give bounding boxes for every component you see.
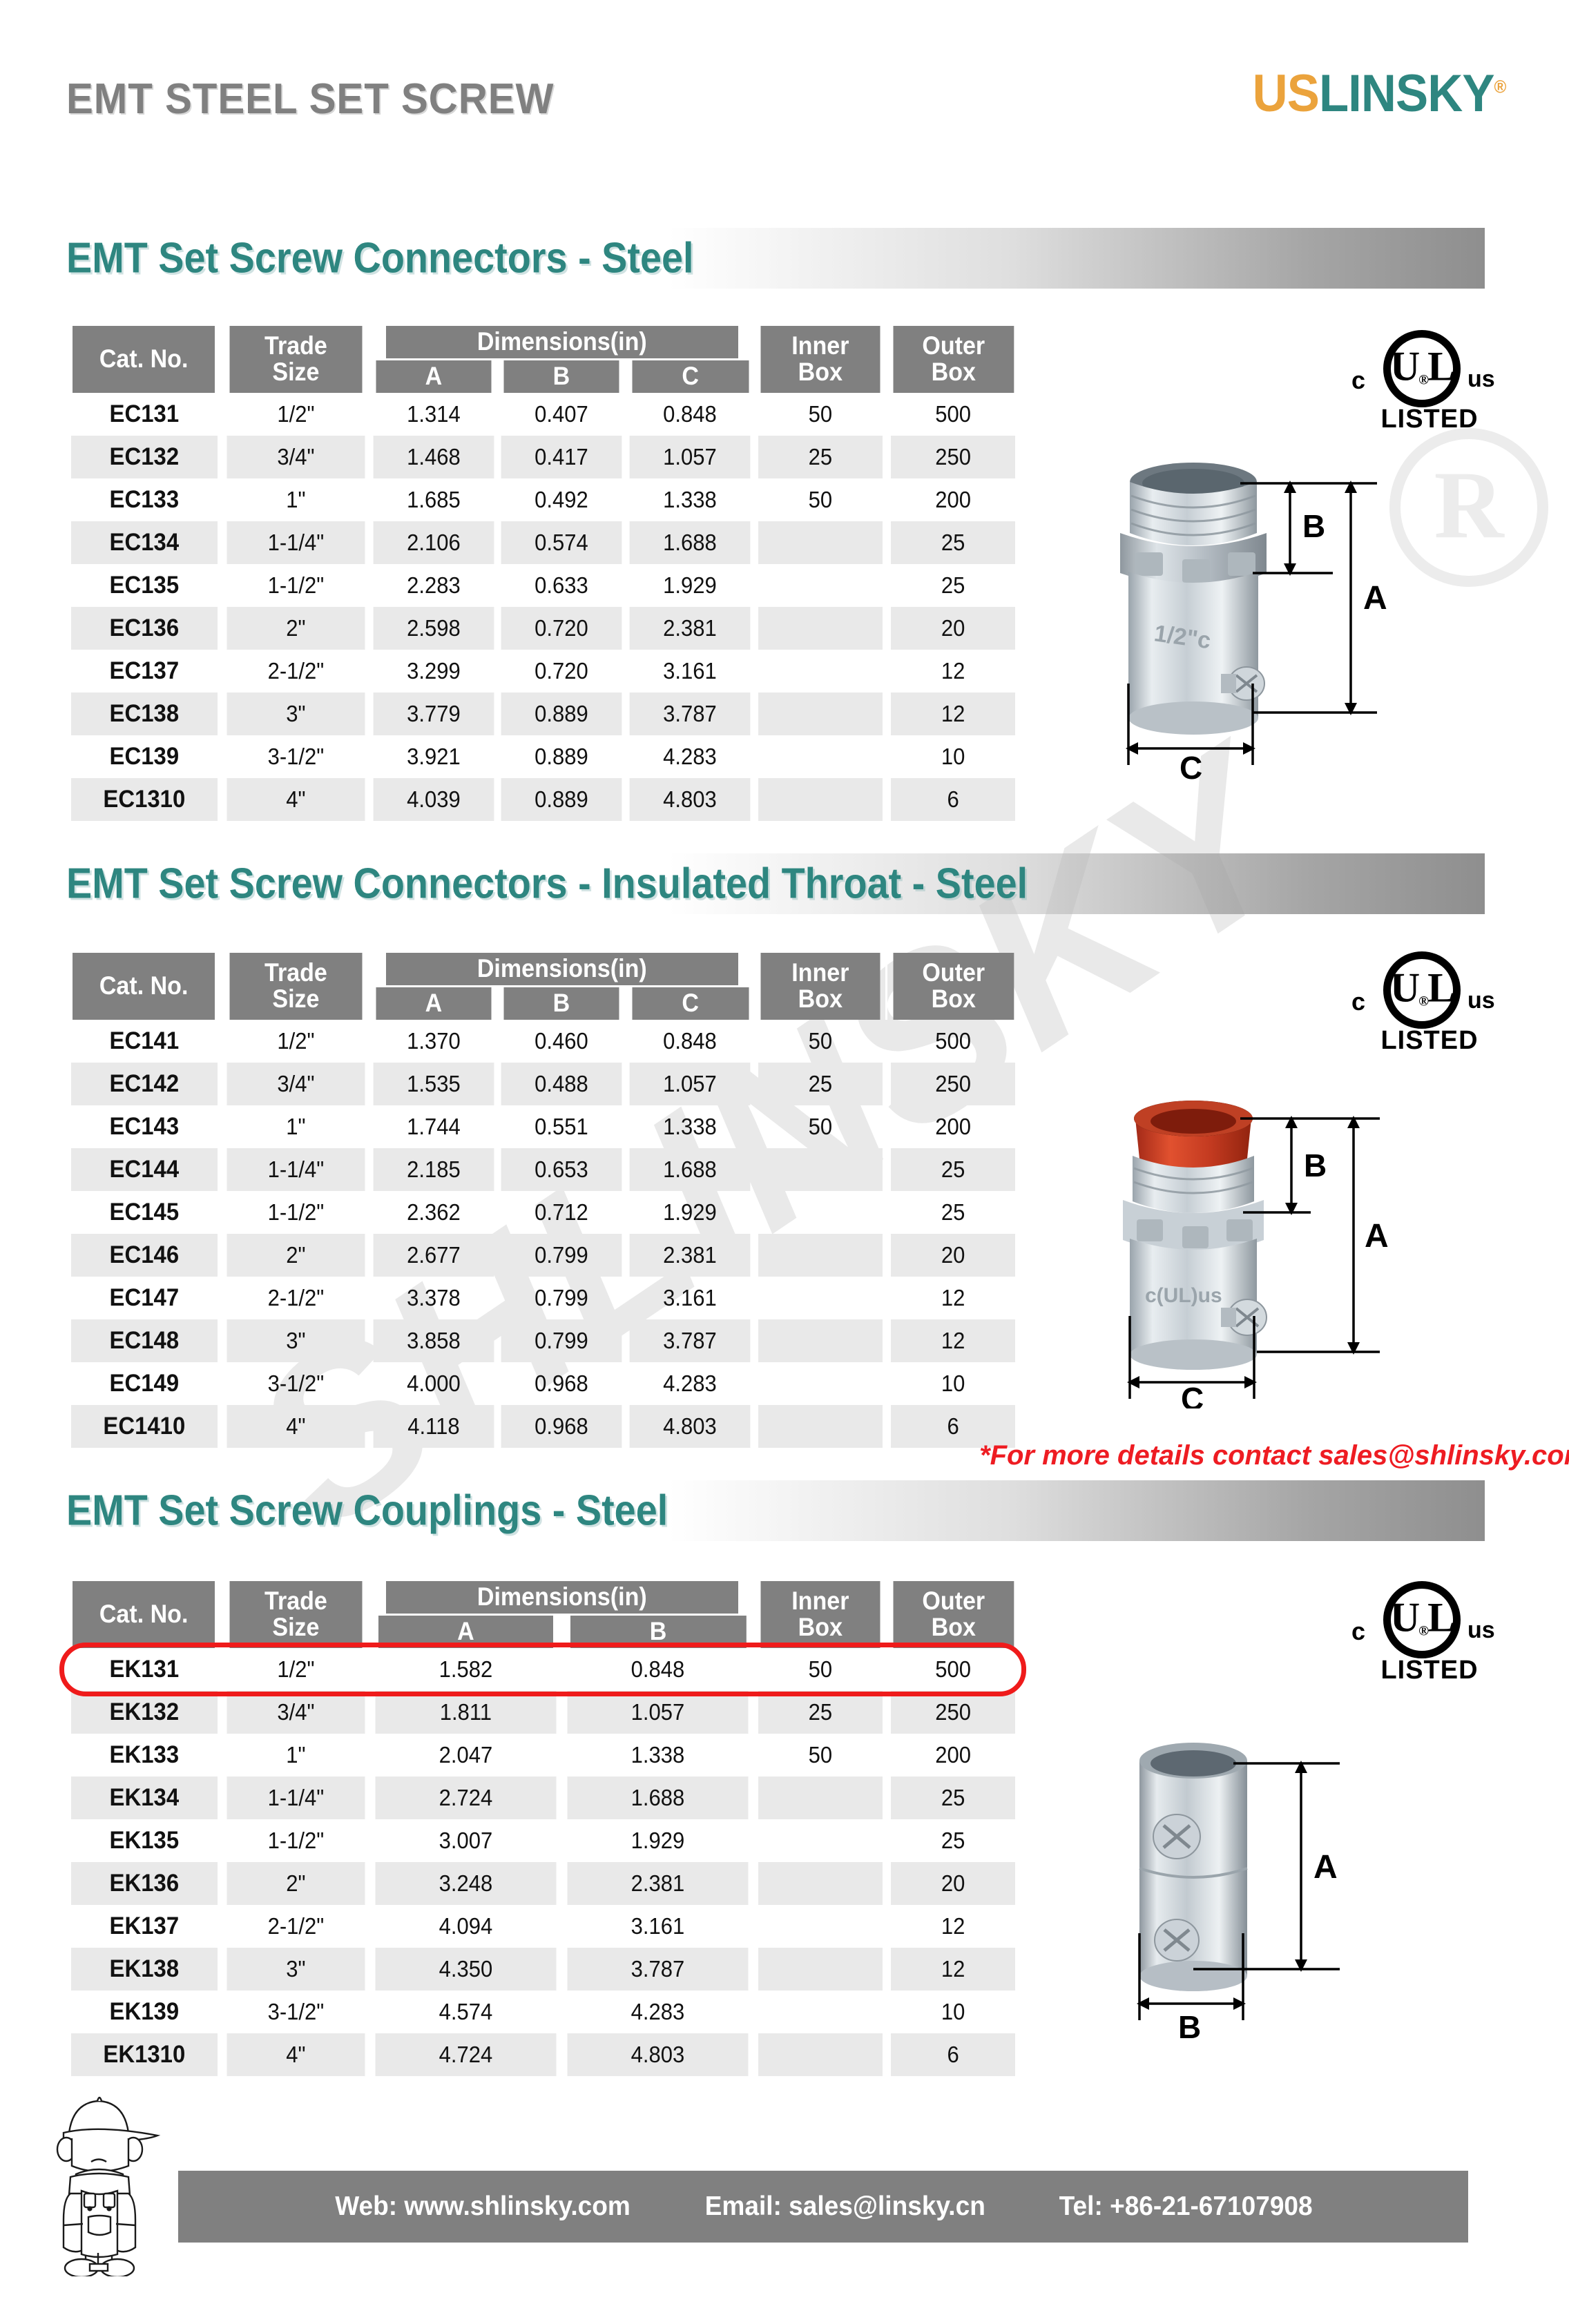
cell-dim-c: 1.057 bbox=[630, 1063, 751, 1105]
ul-us-label: us bbox=[1467, 1617, 1495, 1644]
cell-cat: EC135 bbox=[71, 564, 218, 607]
col-cat-no: Cat. No. bbox=[73, 953, 216, 1020]
cell-dim-b: 0.653 bbox=[501, 1148, 622, 1191]
cell-dim-a: 3.779 bbox=[373, 693, 494, 735]
table-row: EK1383"4.3503.78712 bbox=[66, 1948, 1019, 1991]
ul-c-label: c bbox=[1351, 1617, 1365, 1646]
table-row: EK1351-1/2"3.0071.92925 bbox=[66, 1819, 1019, 1862]
cell-outer-box: 25 bbox=[891, 1819, 1016, 1862]
cell-dim-a: 4.350 bbox=[375, 1948, 556, 1991]
cell-dim-a: 1.811 bbox=[375, 1691, 556, 1734]
cell-cat: EK134 bbox=[71, 1776, 218, 1819]
cell-trade: 3/4" bbox=[227, 436, 365, 478]
cell-trade: 3/4" bbox=[227, 1063, 365, 1105]
table-row: EC1393-1/2"3.9210.8894.28310 bbox=[66, 735, 1019, 778]
cell-cat: EC142 bbox=[71, 1063, 218, 1105]
cell-inner-box bbox=[758, 778, 883, 821]
cell-outer-box: 20 bbox=[891, 1862, 1016, 1905]
cell-dim-c: 1.338 bbox=[630, 1105, 751, 1148]
cell-outer-box: 10 bbox=[891, 1362, 1016, 1405]
cell-dim-a: 1.744 bbox=[373, 1105, 494, 1148]
logo-linsky-text: LINSKY bbox=[1318, 64, 1494, 123]
col-inner-box: InnerBox bbox=[760, 953, 881, 1020]
cell-inner-box bbox=[758, 1319, 883, 1362]
cell-cat: EK139 bbox=[71, 1991, 218, 2033]
svg-text:c(UL)us: c(UL)us bbox=[1145, 1284, 1222, 1307]
cell-trade: 1-1/4" bbox=[227, 521, 365, 564]
cell-dim-c: 4.283 bbox=[630, 735, 751, 778]
cell-inner-box bbox=[758, 1148, 883, 1191]
cell-dim-b: 0.968 bbox=[501, 1405, 622, 1448]
cell-dim-b: 3.161 bbox=[568, 1905, 749, 1948]
table-row: EC13104"4.0390.8894.8036 bbox=[66, 778, 1019, 821]
ul-us-label: us bbox=[1467, 366, 1495, 393]
table-row: EC1323/4"1.4680.4171.05725250 bbox=[66, 436, 1019, 478]
cell-cat: EC1410 bbox=[71, 1405, 218, 1448]
svg-text:B: B bbox=[1304, 1148, 1327, 1183]
cell-dim-c: 4.803 bbox=[630, 1405, 751, 1448]
cell-trade: 2" bbox=[227, 607, 365, 650]
cell-dim-a: 2.106 bbox=[373, 521, 494, 564]
table-row: EC1493-1/2"4.0000.9684.28310 bbox=[66, 1362, 1019, 1405]
cell-trade: 3-1/2" bbox=[227, 1991, 365, 2033]
cell-dim-c: 3.161 bbox=[630, 650, 751, 693]
cell-dim-a: 3.858 bbox=[373, 1319, 494, 1362]
cell-outer-box: 250 bbox=[891, 436, 1016, 478]
cell-cat: EC133 bbox=[71, 478, 218, 521]
ul-listed-label: LISTED bbox=[1350, 1026, 1509, 1056]
mascot-worker-icon bbox=[33, 2090, 164, 2280]
cell-outer-box: 12 bbox=[891, 1905, 1016, 1948]
table-row: EK1393-1/2"4.5744.28310 bbox=[66, 1991, 1019, 2033]
col-dimensions: Dimensions(in) bbox=[385, 326, 739, 359]
section-header-connectors-insulated: EMT Set Screw Connectors - Insulated Thr… bbox=[0, 853, 1485, 914]
cell-trade: 1/2" bbox=[227, 1648, 365, 1691]
col-cat-no: Cat. No. bbox=[73, 326, 216, 393]
cell-dim-b: 1.338 bbox=[568, 1734, 749, 1776]
figure-emt-connector-steel: 1/2"c B A bbox=[1105, 456, 1430, 780]
cell-dim-c: 3.787 bbox=[630, 1319, 751, 1362]
cell-dim-b: 1.929 bbox=[568, 1819, 749, 1862]
cell-inner-box: 25 bbox=[758, 1691, 883, 1734]
footer-tel[interactable]: Tel: +86-21-67107908 bbox=[1059, 2191, 1312, 2222]
cell-inner-box: 50 bbox=[758, 393, 883, 436]
cell-trade: 4" bbox=[227, 778, 365, 821]
svg-text:C: C bbox=[1180, 750, 1202, 780]
cell-dim-a: 4.724 bbox=[375, 2033, 556, 2076]
cell-trade: 1" bbox=[227, 1105, 365, 1148]
cell-inner-box bbox=[758, 693, 883, 735]
figure-emt-coupling: A B bbox=[1112, 1733, 1416, 2044]
cell-dim-b: 0.889 bbox=[501, 693, 622, 735]
cell-cat: EK1310 bbox=[71, 2033, 218, 2076]
brand-logo: USLINSKY® bbox=[1252, 64, 1505, 124]
table-row: EC1372-1/2"3.2990.7203.16112 bbox=[66, 650, 1019, 693]
cell-dim-b: 0.799 bbox=[501, 1234, 622, 1277]
cell-dim-a: 4.000 bbox=[373, 1362, 494, 1405]
cell-cat: EK131 bbox=[71, 1648, 218, 1691]
cell-dim-a: 2.047 bbox=[375, 1734, 556, 1776]
ul-circle: U®L bbox=[1383, 951, 1461, 1029]
table-row: EK13104"4.7244.8036 bbox=[66, 2033, 1019, 2076]
table-couplings-steel: Cat. No. TradeSize Dimensions(in) InnerB… bbox=[66, 1581, 1019, 2076]
cell-dim-b: 0.633 bbox=[501, 564, 622, 607]
cell-dim-b: 0.488 bbox=[501, 1063, 622, 1105]
ul-circle: U®L bbox=[1383, 1581, 1461, 1658]
cell-cat: EK132 bbox=[71, 1691, 218, 1734]
table-row: EC1462"2.6770.7992.38120 bbox=[66, 1234, 1019, 1277]
cell-dim-b: 4.283 bbox=[568, 1991, 749, 2033]
cell-dim-a: 1.685 bbox=[373, 478, 494, 521]
cell-dim-b: 4.803 bbox=[568, 2033, 749, 2076]
section-header-couplings-steel: EMT Set Screw Couplings - Steel bbox=[0, 1480, 1485, 1541]
cell-trade: 4" bbox=[227, 2033, 365, 2076]
cell-dim-b: 0.968 bbox=[501, 1362, 622, 1405]
ul-c-label: c bbox=[1351, 987, 1365, 1016]
cell-cat: EC147 bbox=[71, 1277, 218, 1319]
cell-outer-box: 25 bbox=[891, 521, 1016, 564]
ul-us-label: us bbox=[1467, 987, 1495, 1014]
section-title: EMT Set Screw Couplings - Steel bbox=[66, 1487, 668, 1536]
table-row: EC1431"1.7440.5511.33850200 bbox=[66, 1105, 1019, 1148]
cell-inner-box bbox=[758, 1277, 883, 1319]
ul-circle: U®L bbox=[1383, 330, 1461, 407]
cell-dim-c: 0.848 bbox=[630, 1020, 751, 1063]
cell-dim-a: 2.598 bbox=[373, 607, 494, 650]
cell-dim-c: 1.929 bbox=[630, 564, 751, 607]
contact-note: *For more details contact sales@shlinsky… bbox=[979, 1440, 1569, 1471]
footer-contact-bar: Web: www.shlinsky.com Email: sales@linsk… bbox=[178, 2171, 1468, 2243]
cell-dim-a: 2.283 bbox=[373, 564, 494, 607]
table-row: EC1451-1/2"2.3620.7121.92925 bbox=[66, 1191, 1019, 1234]
cell-outer-box: 12 bbox=[891, 1277, 1016, 1319]
col-dim-a: A bbox=[374, 986, 492, 1019]
col-dim-b: B bbox=[503, 359, 621, 392]
cell-outer-box: 12 bbox=[891, 650, 1016, 693]
cell-dim-a: 4.039 bbox=[373, 778, 494, 821]
cell-cat: EK136 bbox=[71, 1862, 218, 1905]
ul-listed-label: LISTED bbox=[1350, 1656, 1509, 1685]
cell-outer-box: 25 bbox=[891, 1191, 1016, 1234]
cell-dim-b: 0.720 bbox=[501, 607, 622, 650]
cell-trade: 3-1/2" bbox=[227, 735, 365, 778]
table-header: Cat. No. TradeSize Dimensions(in) InnerB… bbox=[66, 326, 1019, 393]
cell-dim-c: 2.381 bbox=[630, 1234, 751, 1277]
cell-dim-a: 4.118 bbox=[373, 1405, 494, 1448]
cell-trade: 2" bbox=[227, 1234, 365, 1277]
cell-inner-box bbox=[758, 1362, 883, 1405]
cell-cat: EC145 bbox=[71, 1191, 218, 1234]
cell-trade: 1-1/2" bbox=[227, 1191, 365, 1234]
cell-cat: EC148 bbox=[71, 1319, 218, 1362]
cell-dim-c: 1.338 bbox=[630, 478, 751, 521]
cell-dim-b: 0.417 bbox=[501, 436, 622, 478]
cell-inner-box: 50 bbox=[758, 1648, 883, 1691]
table-row: EC1331"1.6850.4921.33850200 bbox=[66, 478, 1019, 521]
cell-outer-box: 12 bbox=[891, 1319, 1016, 1362]
col-inner-box: InnerBox bbox=[760, 1581, 881, 1648]
table-row: EC14104"4.1180.9684.8036 bbox=[66, 1405, 1019, 1448]
cell-inner-box bbox=[758, 1405, 883, 1448]
cell-cat: EC141 bbox=[71, 1020, 218, 1063]
footer-email[interactable]: Email: sales@linsky.cn bbox=[705, 2191, 985, 2222]
cell-dim-b: 0.720 bbox=[501, 650, 622, 693]
cell-cat: EK138 bbox=[71, 1948, 218, 1991]
cell-dim-a: 1.314 bbox=[373, 393, 494, 436]
cell-outer-box: 250 bbox=[891, 1063, 1016, 1105]
cell-outer-box: 250 bbox=[891, 1691, 1016, 1734]
cell-trade: 4" bbox=[227, 1405, 365, 1448]
cell-inner-box bbox=[758, 1991, 883, 2033]
cell-dim-b: 0.460 bbox=[501, 1020, 622, 1063]
cell-outer-box: 20 bbox=[891, 607, 1016, 650]
table-body: EC1411/2"1.3700.4600.84850500EC1423/4"1.… bbox=[66, 1020, 1019, 1448]
cell-trade: 1" bbox=[227, 478, 365, 521]
cell-trade: 3/4" bbox=[227, 1691, 365, 1734]
col-outer-box: OuterBox bbox=[892, 326, 1014, 393]
col-dim-c: C bbox=[631, 359, 749, 392]
ul-listed-icon: c U®L us LISTED bbox=[1350, 1581, 1509, 1685]
cell-dim-a: 1.370 bbox=[373, 1020, 494, 1063]
cell-dim-a: 2.185 bbox=[373, 1148, 494, 1191]
cell-dim-c: 4.803 bbox=[630, 778, 751, 821]
cell-inner-box bbox=[758, 1862, 883, 1905]
cell-dim-b: 0.848 bbox=[568, 1648, 749, 1691]
cell-dim-c: 1.688 bbox=[630, 1148, 751, 1191]
cell-dim-a: 3.007 bbox=[375, 1819, 556, 1862]
cell-dim-c: 0.848 bbox=[630, 393, 751, 436]
cell-inner-box bbox=[758, 1191, 883, 1234]
cell-trade: 3" bbox=[227, 693, 365, 735]
cell-dim-b: 0.551 bbox=[501, 1105, 622, 1148]
cell-inner-box bbox=[758, 1776, 883, 1819]
ul-listed-icon: c U®L us LISTED bbox=[1350, 330, 1509, 434]
col-cat-no: Cat. No. bbox=[73, 1581, 216, 1648]
svg-text:A: A bbox=[1363, 580, 1387, 617]
cell-dim-a: 4.574 bbox=[375, 1991, 556, 2033]
cell-dim-c: 1.929 bbox=[630, 1191, 751, 1234]
cell-dim-b: 0.407 bbox=[501, 393, 622, 436]
cell-dim-a: 3.248 bbox=[375, 1862, 556, 1905]
table-header: Cat. No. TradeSize Dimensions(in) InnerB… bbox=[66, 1581, 1019, 1648]
cell-dim-b: 1.688 bbox=[568, 1776, 749, 1819]
table-row: EC1351-1/2"2.2830.6331.92925 bbox=[66, 564, 1019, 607]
catalog-page: SHLINSKY EMT STEEL SET SCREW USLINSKY® E… bbox=[0, 0, 1569, 2324]
cell-inner-box bbox=[758, 1234, 883, 1277]
cell-dim-c: 1.057 bbox=[630, 436, 751, 478]
table-row: EK1362"3.2482.38120 bbox=[66, 1862, 1019, 1905]
cell-inner-box bbox=[758, 607, 883, 650]
cell-inner-box: 50 bbox=[758, 1734, 883, 1776]
cell-dim-b: 0.889 bbox=[501, 778, 622, 821]
cell-dim-a: 1.582 bbox=[375, 1648, 556, 1691]
cell-outer-box: 25 bbox=[891, 1776, 1016, 1819]
cell-dim-a: 3.921 bbox=[373, 735, 494, 778]
cell-inner-box bbox=[758, 650, 883, 693]
cell-outer-box: 200 bbox=[891, 1734, 1016, 1776]
cell-cat: EK137 bbox=[71, 1905, 218, 1948]
cell-cat: EC131 bbox=[71, 393, 218, 436]
table-row: EC1483"3.8580.7993.78712 bbox=[66, 1319, 1019, 1362]
cell-dim-a: 2.677 bbox=[373, 1234, 494, 1277]
cell-trade: 1/2" bbox=[227, 393, 365, 436]
col-dim-b: B bbox=[503, 986, 621, 1019]
table-row: EC1311/2"1.3140.4070.84850500 bbox=[66, 393, 1019, 436]
cell-trade: 1" bbox=[227, 1734, 365, 1776]
cell-trade: 2-1/2" bbox=[227, 1277, 365, 1319]
cell-inner-box bbox=[758, 1819, 883, 1862]
cell-dim-b: 1.057 bbox=[568, 1691, 749, 1734]
svg-text:A: A bbox=[1313, 1849, 1338, 1886]
cell-cat: EC143 bbox=[71, 1105, 218, 1148]
cell-outer-box: 25 bbox=[891, 564, 1016, 607]
ul-listed-icon: c U®L us LISTED bbox=[1350, 951, 1509, 1055]
svg-text:C: C bbox=[1181, 1381, 1204, 1408]
col-dim-a: A bbox=[374, 359, 492, 392]
table-body: EC1311/2"1.3140.4070.84850500EC1323/4"1.… bbox=[66, 393, 1019, 821]
cell-dim-c: 4.283 bbox=[630, 1362, 751, 1405]
cell-outer-box: 12 bbox=[891, 1948, 1016, 1991]
ul-listed-label: LISTED bbox=[1350, 405, 1509, 434]
footer-web[interactable]: Web: www.shlinsky.com bbox=[335, 2191, 631, 2222]
cell-outer-box: 12 bbox=[891, 693, 1016, 735]
figure-emt-connector-insulated: c(UL)us B A bbox=[1105, 1098, 1430, 1408]
table-row: EK1372-1/2"4.0943.16112 bbox=[66, 1905, 1019, 1948]
cell-dim-b: 0.799 bbox=[501, 1277, 622, 1319]
table-row: EC1423/4"1.5350.4881.05725250 bbox=[66, 1063, 1019, 1105]
cell-inner-box: 25 bbox=[758, 1063, 883, 1105]
ul-c-label: c bbox=[1351, 366, 1365, 395]
cell-outer-box: 25 bbox=[891, 1148, 1016, 1191]
cell-dim-a: 2.724 bbox=[375, 1776, 556, 1819]
col-outer-box: OuterBox bbox=[892, 953, 1014, 1020]
cell-outer-box: 20 bbox=[891, 1234, 1016, 1277]
cell-trade: 1/2" bbox=[227, 1020, 365, 1063]
cell-dim-b: 3.787 bbox=[568, 1948, 749, 1991]
table-row: EC1341-1/4"2.1060.5741.68825 bbox=[66, 521, 1019, 564]
cell-trade: 2" bbox=[227, 1862, 365, 1905]
table-row: EK1323/4"1.8111.05725250 bbox=[66, 1691, 1019, 1734]
cell-outer-box: 500 bbox=[891, 393, 1016, 436]
cell-inner-box: 50 bbox=[758, 478, 883, 521]
cell-inner-box bbox=[758, 1948, 883, 1991]
table-row: EK1311/2"1.5820.84850500 bbox=[66, 1648, 1019, 1691]
col-dim-b: B bbox=[569, 1614, 746, 1647]
cell-trade: 1-1/2" bbox=[227, 564, 365, 607]
cell-cat: EC139 bbox=[71, 735, 218, 778]
cell-cat: EC149 bbox=[71, 1362, 218, 1405]
cell-dim-c: 1.688 bbox=[630, 521, 751, 564]
section-header-connectors-steel: EMT Set Screw Connectors - Steel bbox=[0, 228, 1485, 289]
cell-trade: 1-1/4" bbox=[227, 1776, 365, 1819]
cell-dim-c: 3.787 bbox=[630, 693, 751, 735]
cell-outer-box: 10 bbox=[891, 1991, 1016, 2033]
cell-outer-box: 200 bbox=[891, 1105, 1016, 1148]
col-trade-size: TradeSize bbox=[228, 1581, 363, 1648]
cell-inner-box: 25 bbox=[758, 436, 883, 478]
section-title: EMT Set Screw Connectors - Steel bbox=[66, 234, 694, 283]
col-dim-c: C bbox=[631, 986, 749, 1019]
cell-dim-b: 0.799 bbox=[501, 1319, 622, 1362]
col-dimensions: Dimensions(in) bbox=[385, 953, 739, 986]
cell-trade: 3" bbox=[227, 1948, 365, 1991]
table-body: EK1311/2"1.5820.84850500EK1323/4"1.8111.… bbox=[66, 1648, 1019, 2076]
cell-outer-box: 6 bbox=[891, 778, 1016, 821]
cell-trade: 3-1/2" bbox=[227, 1362, 365, 1405]
table-row: EC1441-1/4"2.1850.6531.68825 bbox=[66, 1148, 1019, 1191]
cell-dim-b: 0.492 bbox=[501, 478, 622, 521]
cell-cat: EC132 bbox=[71, 436, 218, 478]
table-row: EK1341-1/4"2.7241.68825 bbox=[66, 1776, 1019, 1819]
table-row: EC1411/2"1.3700.4600.84850500 bbox=[66, 1020, 1019, 1063]
cell-trade: 1-1/4" bbox=[227, 1148, 365, 1191]
page-title: EMT STEEL SET SCREW bbox=[66, 75, 554, 124]
col-dimensions: Dimensions(in) bbox=[385, 1581, 739, 1614]
cell-outer-box: 6 bbox=[891, 2033, 1016, 2076]
cell-inner-box bbox=[758, 2033, 883, 2076]
cell-inner-box bbox=[758, 1905, 883, 1948]
cell-outer-box: 10 bbox=[891, 735, 1016, 778]
cell-cat: EK133 bbox=[71, 1734, 218, 1776]
cell-cat: EK135 bbox=[71, 1819, 218, 1862]
cell-dim-a: 3.299 bbox=[373, 650, 494, 693]
col-trade-size: TradeSize bbox=[228, 326, 363, 393]
cell-inner-box bbox=[758, 564, 883, 607]
section-title: EMT Set Screw Connectors - Insulated Thr… bbox=[66, 860, 1028, 909]
table-connectors-insulated: Cat. No. TradeSize Dimensions(in) InnerB… bbox=[66, 953, 1019, 1448]
col-trade-size: TradeSize bbox=[228, 953, 363, 1020]
logo-registered-icon: ® bbox=[1494, 77, 1505, 97]
svg-text:B: B bbox=[1302, 508, 1325, 544]
col-inner-box: InnerBox bbox=[760, 326, 881, 393]
cell-dim-b: 0.574 bbox=[501, 521, 622, 564]
cell-cat: EC138 bbox=[71, 693, 218, 735]
table-row: EC1472-1/2"3.3780.7993.16112 bbox=[66, 1277, 1019, 1319]
cell-trade: 3" bbox=[227, 1319, 365, 1362]
cell-dim-b: 2.381 bbox=[568, 1862, 749, 1905]
col-outer-box: OuterBox bbox=[892, 1581, 1014, 1648]
cell-dim-a: 1.535 bbox=[373, 1063, 494, 1105]
table-connectors-steel: Cat. No. TradeSize Dimensions(in) InnerB… bbox=[66, 326, 1019, 821]
logo-us-text: US bbox=[1252, 64, 1318, 123]
cell-dim-a: 4.094 bbox=[375, 1905, 556, 1948]
cell-dim-b: 0.712 bbox=[501, 1191, 622, 1234]
cell-cat: EC146 bbox=[71, 1234, 218, 1277]
cell-cat: EC136 bbox=[71, 607, 218, 650]
cell-outer-box: 200 bbox=[891, 478, 1016, 521]
cell-inner-box: 50 bbox=[758, 1105, 883, 1148]
cell-dim-c: 3.161 bbox=[630, 1277, 751, 1319]
cell-dim-a: 2.362 bbox=[373, 1191, 494, 1234]
cell-outer-box: 500 bbox=[891, 1648, 1016, 1691]
cell-trade: 2-1/2" bbox=[227, 1905, 365, 1948]
table-row: EK1331"2.0471.33850200 bbox=[66, 1734, 1019, 1776]
cell-trade: 2-1/2" bbox=[227, 650, 365, 693]
table-row: EC1383"3.7790.8893.78712 bbox=[66, 693, 1019, 735]
cell-inner-box bbox=[758, 735, 883, 778]
cell-cat: EC134 bbox=[71, 521, 218, 564]
cell-cat: EC1310 bbox=[71, 778, 218, 821]
col-dim-a: A bbox=[377, 1614, 554, 1647]
cell-outer-box: 500 bbox=[891, 1020, 1016, 1063]
cell-dim-b: 0.889 bbox=[501, 735, 622, 778]
table-header: Cat. No. TradeSize Dimensions(in) InnerB… bbox=[66, 953, 1019, 1020]
cell-inner-box bbox=[758, 521, 883, 564]
cell-cat: EC137 bbox=[71, 650, 218, 693]
cell-inner-box: 50 bbox=[758, 1020, 883, 1063]
cell-dim-a: 3.378 bbox=[373, 1277, 494, 1319]
cell-trade: 1-1/2" bbox=[227, 1819, 365, 1862]
